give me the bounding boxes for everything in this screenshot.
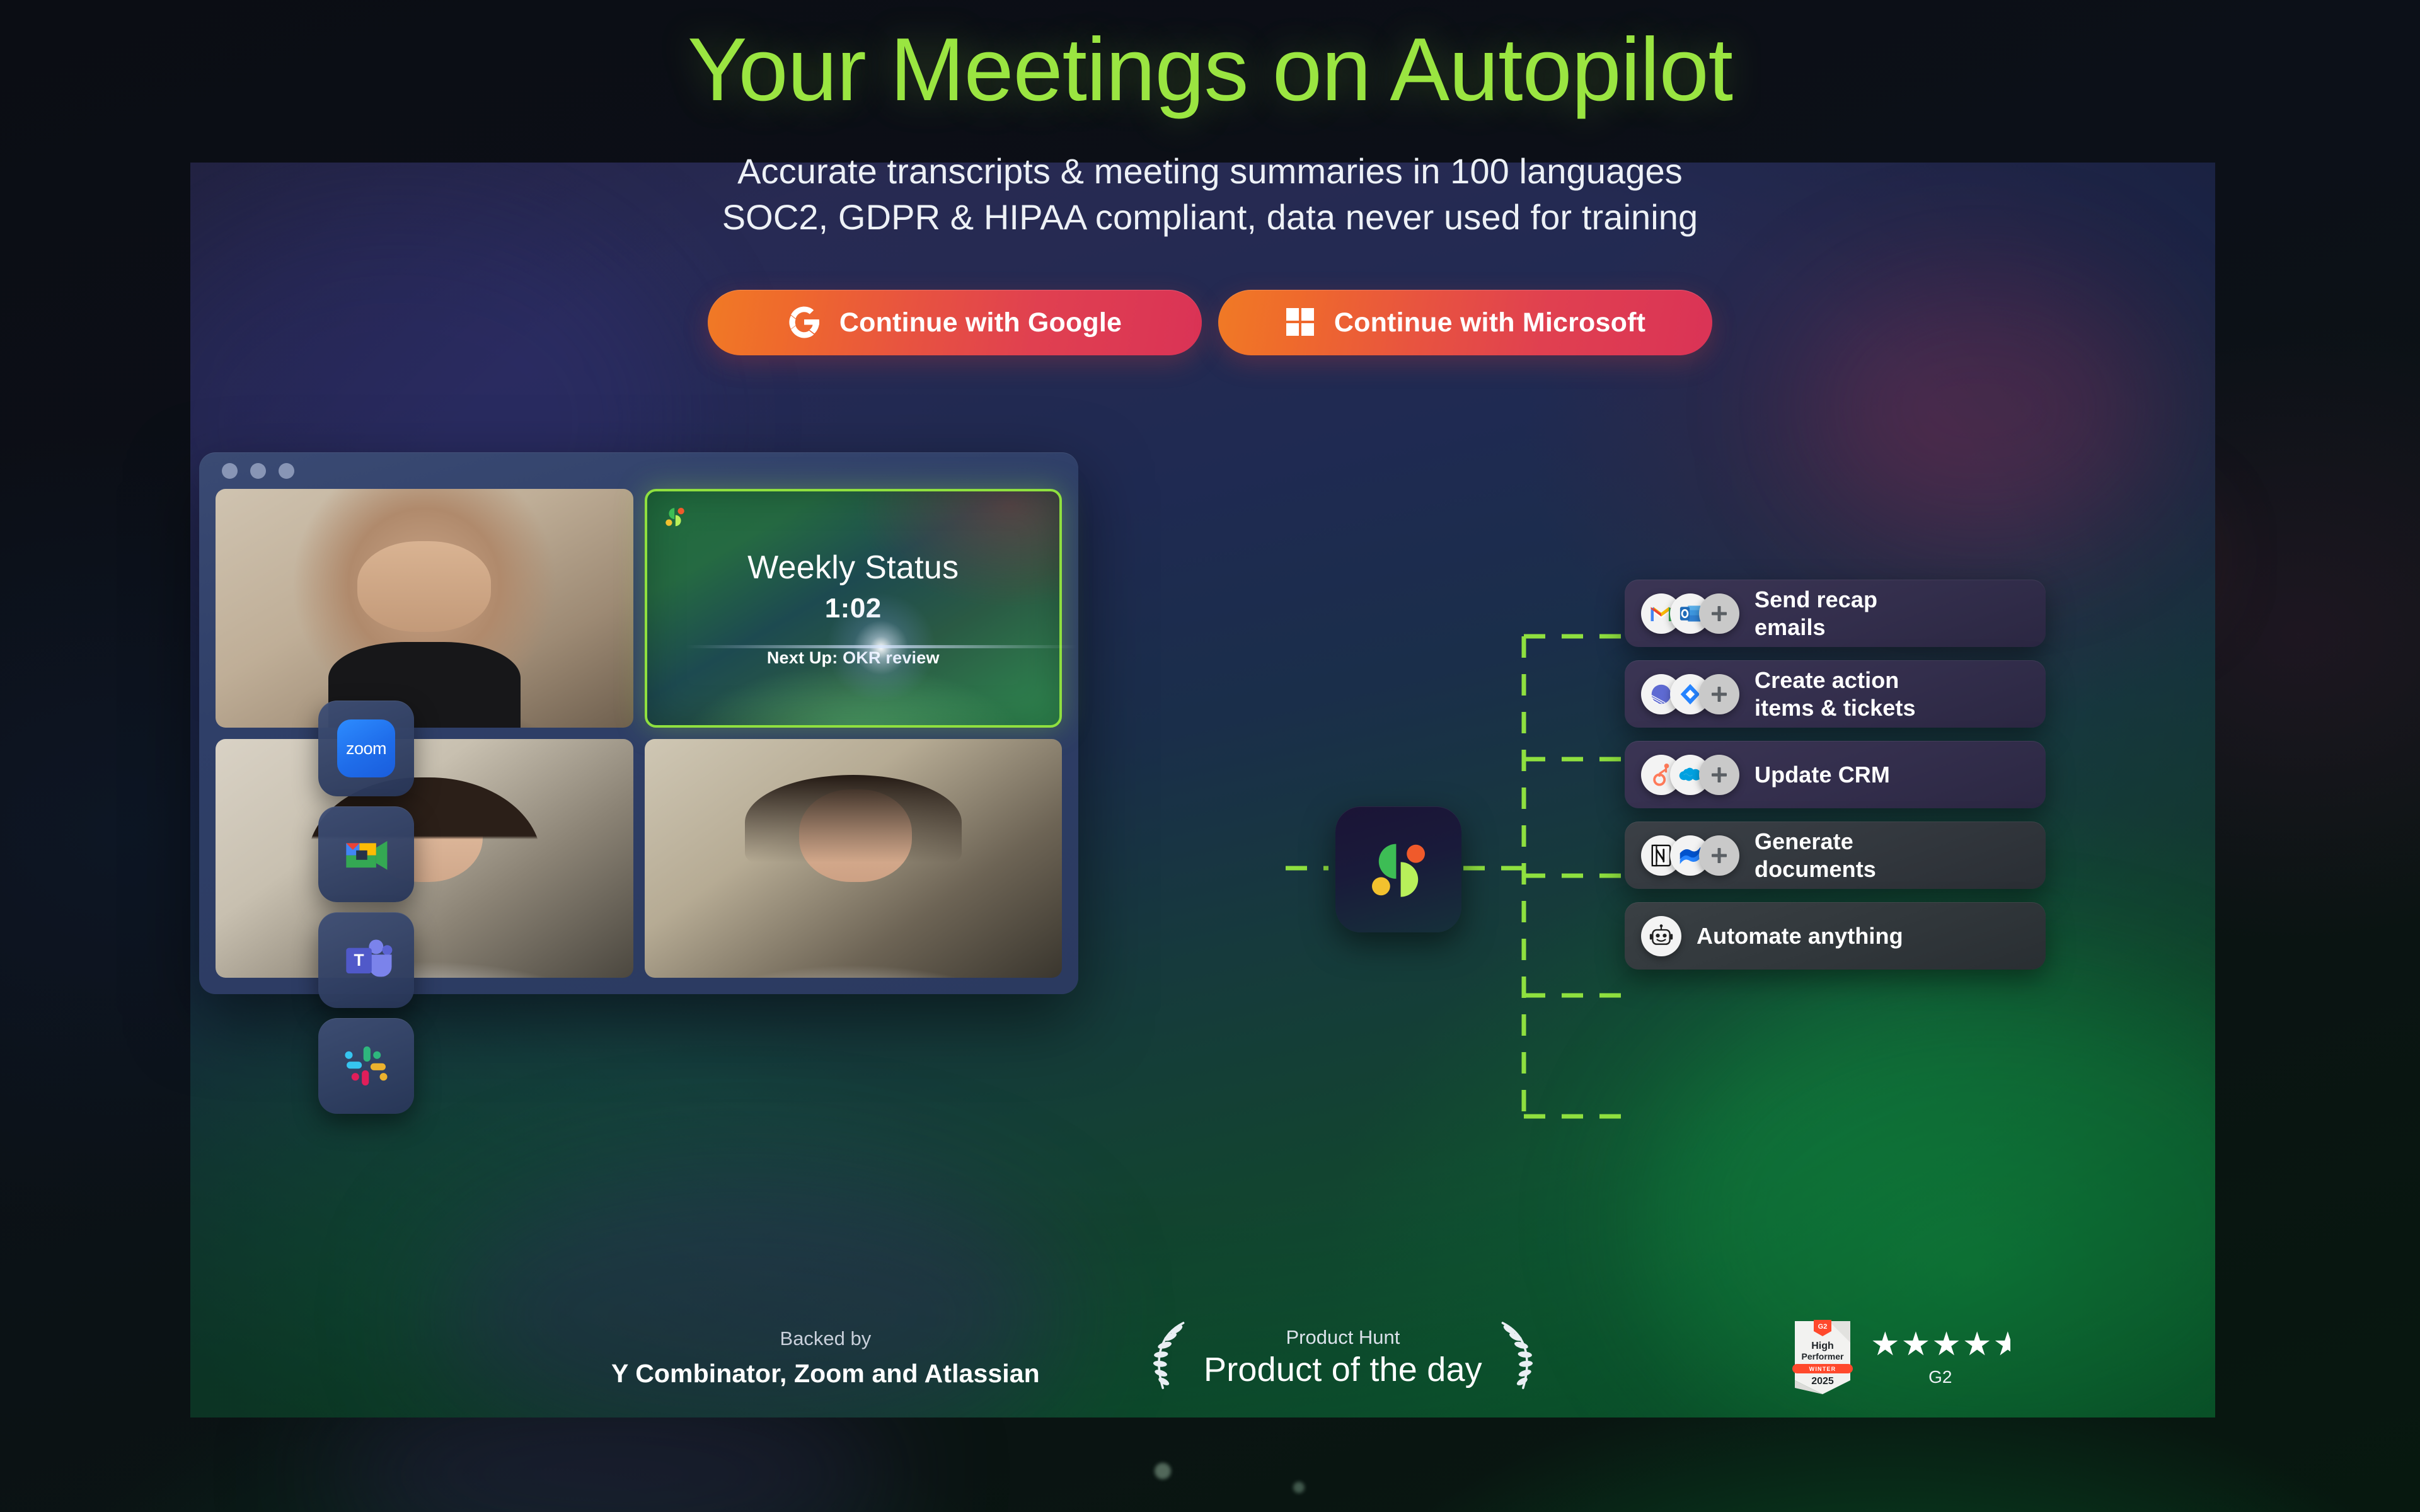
- hero-subtitle-line-1: Accurate transcripts & meeting summaries…: [0, 148, 2420, 195]
- microsoft-teams-icon: T: [337, 931, 395, 989]
- action-card-list: Send recap emails: [1625, 580, 2046, 970]
- g2-badge-line-1: High: [1811, 1341, 1834, 1351]
- app-chip-microsoft-teams[interactable]: T: [318, 912, 414, 1008]
- participant-tile-2: [216, 739, 633, 978]
- g2-star-rating: ★★★★★: [1870, 1328, 2010, 1361]
- zoom-icon: zoom: [337, 719, 395, 777]
- participant-tile-3: [645, 739, 1063, 978]
- svg-text:T: T: [354, 951, 364, 970]
- icon-stack: [1641, 593, 1739, 634]
- continue-with-google-button[interactable]: Continue with Google: [708, 290, 1202, 355]
- continue-with-microsoft-label: Continue with Microsoft: [1334, 307, 1645, 338]
- microsoft-squares-icon: [1285, 307, 1315, 339]
- g2-half-star: ★: [1993, 1328, 2010, 1361]
- screen-share-next-up: Next Up: OKR review: [767, 648, 940, 668]
- action-card-automate-anything[interactable]: Automate anything: [1625, 902, 2046, 970]
- app-chip-google-meet[interactable]: [318, 806, 414, 902]
- hero-subtitle-line-2: SOC2, GDPR & HIPAA compliant, data never…: [0, 194, 2420, 241]
- screen-share-tile: Weekly Status 1:02 Next Up: OKR review: [645, 489, 1063, 728]
- plus-icon: [1699, 593, 1739, 634]
- window-titlebar: [199, 452, 1078, 489]
- action-card-update-crm[interactable]: Update CRM: [1625, 741, 2046, 808]
- google-meet-icon: [337, 825, 395, 883]
- app-chip-slack[interactable]: [318, 1018, 414, 1114]
- icon-stack: [1641, 916, 1681, 956]
- robot-icon: [1641, 916, 1681, 956]
- backed-by-label: Backed by: [611, 1327, 1040, 1350]
- google-g-icon: [788, 306, 821, 340]
- laurel-wreath-icon: [1142, 1319, 1199, 1397]
- g2-badge-line-2: Performer: [1802, 1351, 1844, 1361]
- plus-icon: [1699, 835, 1739, 876]
- plus-icon: [1699, 674, 1739, 714]
- screen-share-title: Weekly Status: [747, 549, 959, 587]
- g2-full-stars: ★★★★: [1870, 1326, 1993, 1363]
- participant-tile-1: [216, 489, 633, 728]
- g2-high-performer-badge: G2 High Performer WINTER 2025: [1791, 1317, 1854, 1398]
- auth-button-row: Continue with Google Continue with Micro…: [0, 290, 2420, 355]
- product-hunt-text: Product Hunt Product of the day: [1204, 1326, 1482, 1389]
- product-hunt-main-line: Product of the day: [1204, 1350, 1482, 1389]
- action-card-label: Send recap emails: [1754, 586, 1877, 641]
- g2-rating-block: ★★★★★ G2: [1870, 1328, 2010, 1387]
- icon-stack: [1641, 674, 1739, 714]
- zoom-icon-label: zoom: [346, 739, 386, 759]
- spinach-logo-icon: [1361, 830, 1436, 909]
- minimize-dot[interactable]: [250, 463, 266, 479]
- page-title: Your Meetings on Autopilot: [0, 23, 2420, 118]
- action-card-generate-documents[interactable]: Generate documents: [1625, 822, 2046, 889]
- product-hunt-badge: Product Hunt Product of the day: [1142, 1319, 1544, 1397]
- backed-by-names: Y Combinator, Zoom and Atlassian: [611, 1359, 1040, 1389]
- bokeh-dot: [1293, 1482, 1305, 1493]
- action-card-label: Update CRM: [1754, 761, 1890, 789]
- spinach-logo-icon: [662, 504, 688, 529]
- g2-badge-year: 2025: [1811, 1376, 1834, 1387]
- g2-badge-block: G2 High Performer WINTER 2025 ★★★★★ G2: [1791, 1317, 2010, 1398]
- backed-by-block: Backed by Y Combinator, Zoom and Atlassi…: [611, 1327, 1040, 1389]
- hub-logo-tile: [1335, 806, 1461, 932]
- bokeh-dot: [1155, 1463, 1171, 1479]
- icon-stack: [1641, 835, 1739, 876]
- app-chip-zoom[interactable]: zoom: [318, 701, 414, 796]
- footer: Backed by Y Combinator, Zoom and Atlassi…: [190, 1298, 2215, 1417]
- action-card-label: Automate anything: [1697, 922, 1903, 950]
- hero-text-block: Your Meetings on Autopilot Accurate tran…: [0, 23, 2420, 241]
- product-hunt-top-line: Product Hunt: [1204, 1326, 1482, 1349]
- slack-icon: [337, 1037, 395, 1095]
- laurel-wreath-icon: [1487, 1319, 1544, 1397]
- g2-label: G2: [1870, 1367, 2010, 1387]
- screen-share-timer: 1:02: [825, 593, 882, 624]
- icon-stack: [1641, 755, 1739, 795]
- app-integration-rail: zoom T: [318, 701, 414, 1114]
- g2-badge-season: WINTER: [1809, 1366, 1836, 1372]
- action-card-label: Generate documents: [1754, 828, 1876, 883]
- close-dot[interactable]: [222, 463, 238, 479]
- svg-text:G2: G2: [1818, 1323, 1828, 1331]
- action-card-create-action-items[interactable]: Create action items & tickets: [1625, 660, 2046, 728]
- plus-icon: [1699, 755, 1739, 795]
- maximize-dot[interactable]: [279, 463, 294, 479]
- action-card-label: Create action items & tickets: [1754, 667, 1916, 722]
- action-card-send-recap-emails[interactable]: Send recap emails: [1625, 580, 2046, 647]
- continue-with-google-label: Continue with Google: [839, 307, 1122, 338]
- continue-with-microsoft-button[interactable]: Continue with Microsoft: [1218, 290, 1712, 355]
